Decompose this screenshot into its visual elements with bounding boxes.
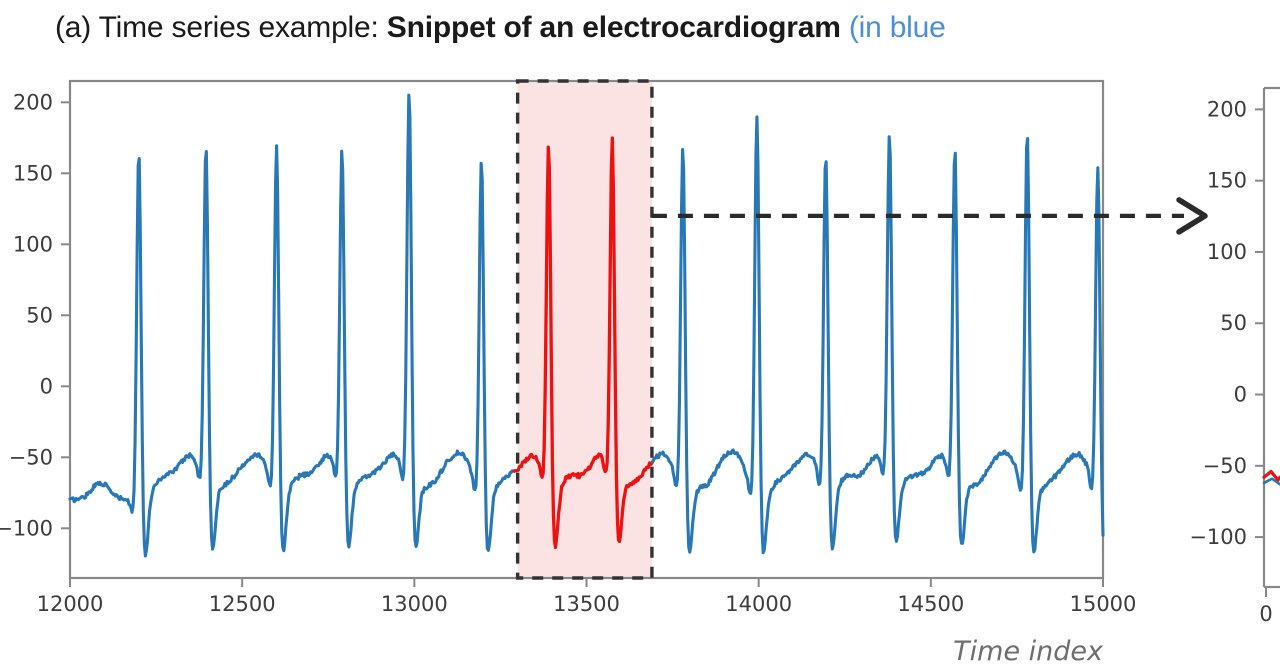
inset-y-tick-label: 0 [1234, 383, 1247, 407]
ecg-figure: 200150100500−50−100 12000125001300013500… [0, 0, 1280, 670]
inset-y-ticks [1255, 109, 1264, 537]
main-plot-x-tick-labels: 12000125001300013500140001450015000 [37, 592, 1137, 616]
x-tick-label: 14500 [897, 592, 964, 616]
y-tick-label: 50 [26, 303, 53, 327]
x-tick-label: 12500 [209, 592, 276, 616]
x-tick-label: 13000 [381, 592, 448, 616]
inset-y-tick-label: 100 [1207, 240, 1247, 264]
inset-y-tick-label: −50 [1203, 454, 1247, 478]
y-tick-label: 100 [13, 232, 53, 256]
y-tick-label: 150 [13, 161, 53, 185]
inset-y-tick-label: 50 [1220, 311, 1247, 335]
inset-y-tick-label: 150 [1207, 169, 1247, 193]
inset-x-tick-label: 0 [1259, 602, 1272, 626]
inset-y-tick-label: −100 [1189, 525, 1247, 549]
main-plot-y-tick-labels: 200150100500−50−100 [0, 90, 53, 540]
y-tick-label: −100 [0, 516, 53, 540]
highlight-window-band [518, 81, 652, 578]
main-plot-y-ticks [61, 102, 70, 528]
x-axis-title: Time index [953, 636, 1104, 667]
ecg-trace-blue-left [70, 95, 518, 556]
y-tick-label: 200 [13, 90, 53, 114]
callout-arrow [652, 200, 1205, 232]
main-plot-x-ticks [70, 578, 1103, 587]
inset-y-tick-labels: 200150100500−50−100 [1189, 97, 1247, 549]
y-tick-label: −50 [9, 445, 53, 469]
inset-y-tick-label: 200 [1207, 97, 1247, 121]
y-tick-label: 0 [40, 374, 53, 398]
ecg-trace-blue-right [653, 117, 1103, 553]
x-tick-label: 14000 [725, 592, 792, 616]
x-tick-label: 12000 [37, 592, 104, 616]
x-tick-label: 13500 [553, 592, 620, 616]
x-tick-label: 15000 [1070, 592, 1137, 616]
zoomed-snippet-panel: 200150100500−50−100 0 [1189, 88, 1280, 626]
main-plot-axes: 200150100500−50−100 12000125001300013500… [0, 81, 1136, 667]
